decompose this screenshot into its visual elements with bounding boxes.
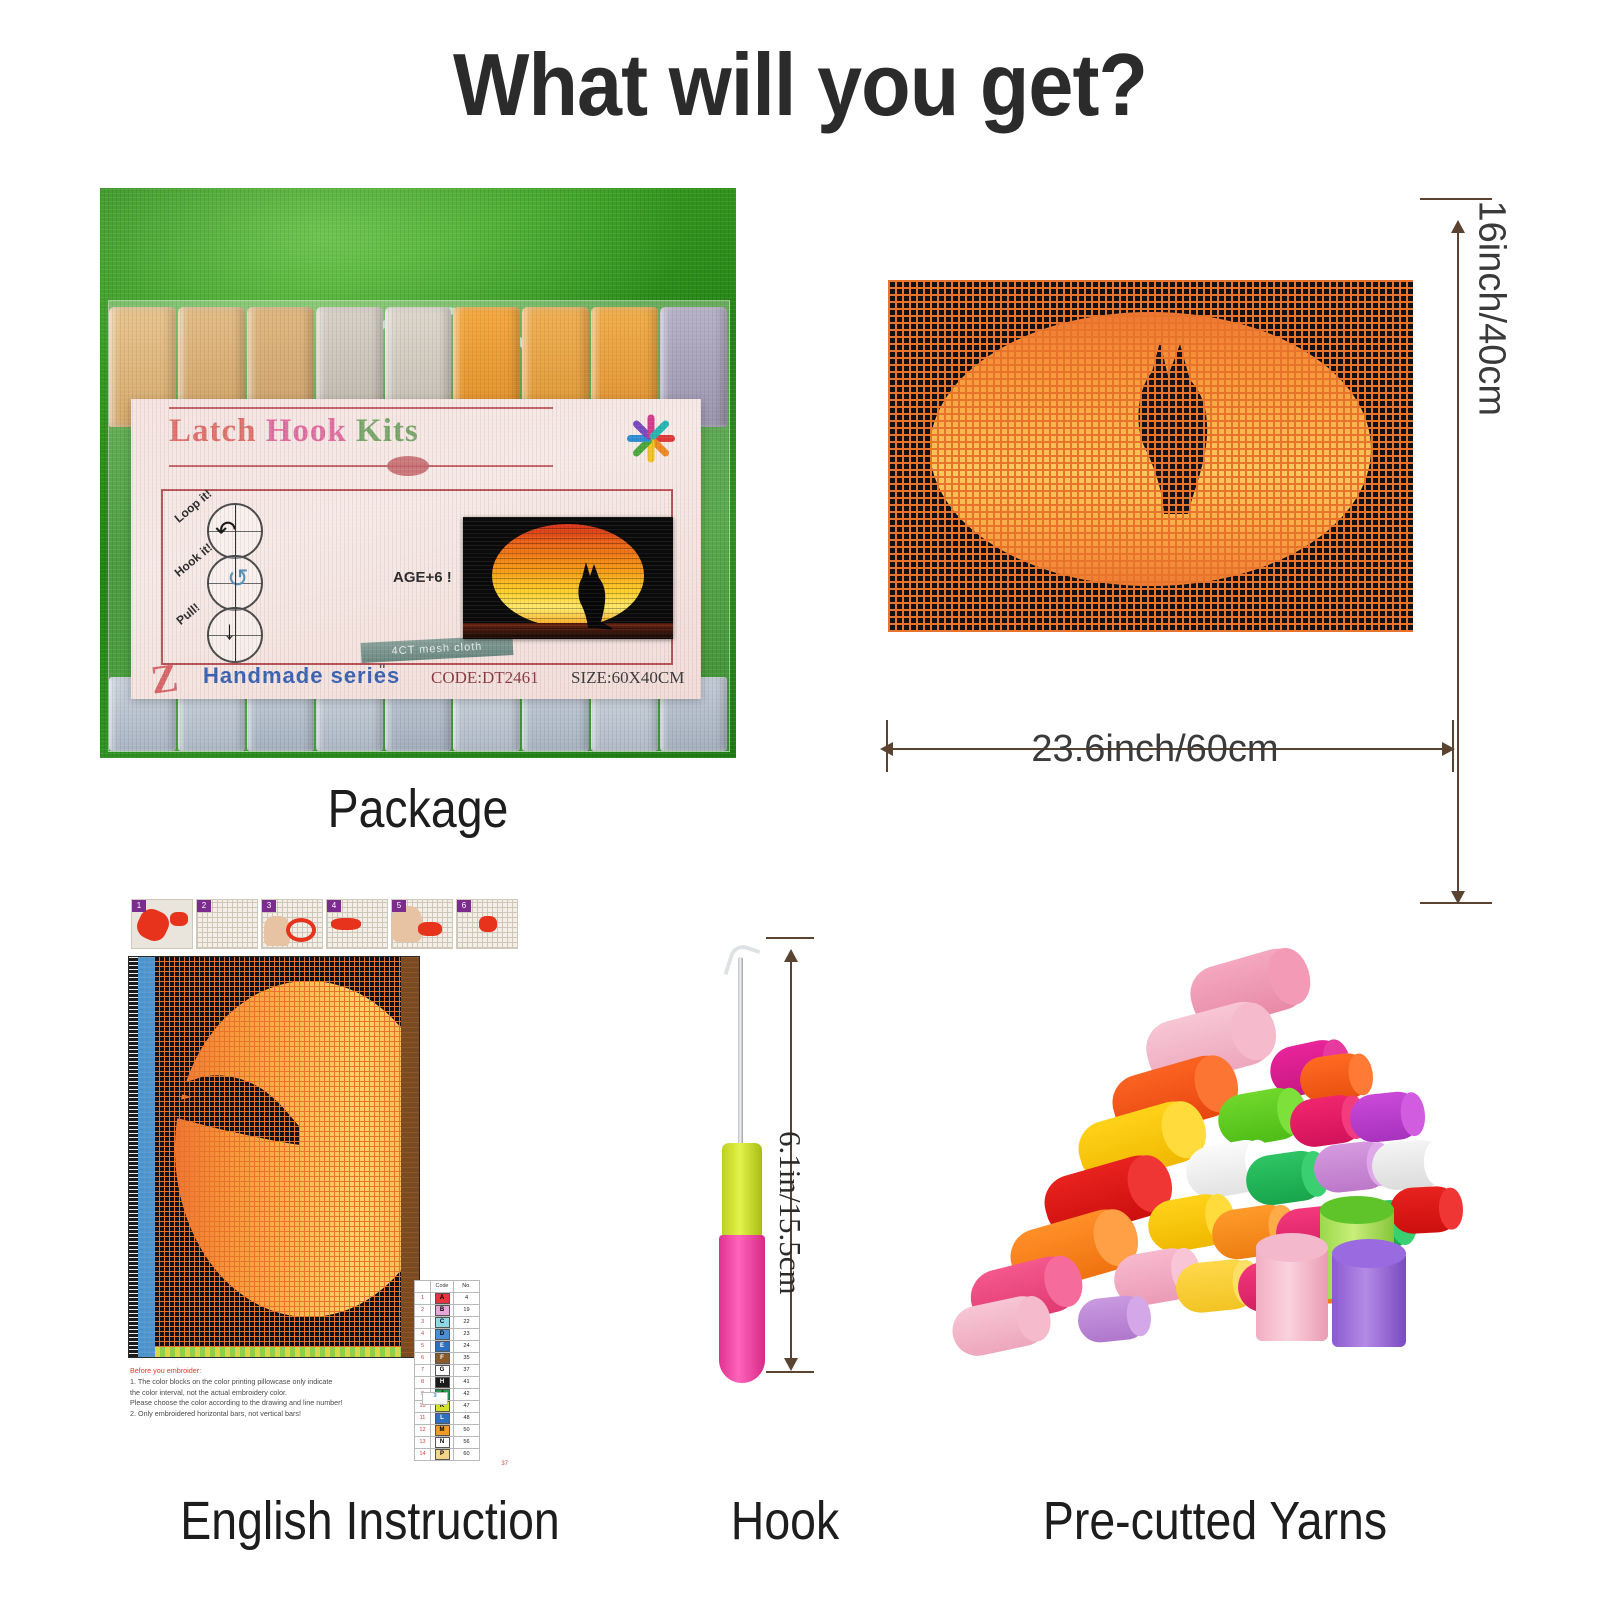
mesh-grid-overlay [888, 280, 1413, 632]
legend-header-row: Code No. Bag. [415, 1281, 522, 1293]
legend-cell-no: 56 [454, 1436, 480, 1448]
label-rule-top [169, 407, 553, 409]
legend-cell-index: 1 [415, 1292, 431, 1304]
yarn-bundle [1370, 1138, 1447, 1191]
legend-row: 4D235 [415, 1328, 522, 1340]
brand-word-hook: Hook [266, 413, 347, 449]
thumb-badge: 5 [392, 900, 406, 912]
legend-cell-no: 37 [454, 1364, 480, 1376]
height-dimension-line [1457, 228, 1459, 902]
legend-cell-no: 23 [454, 1328, 480, 1340]
legend-row: 2B191 [415, 1304, 522, 1316]
canvas-width-label: 23.6inch/60cm [860, 728, 1450, 771]
legend-row: 5E242 [415, 1340, 522, 1352]
legend-cell-code: D [431, 1328, 454, 1340]
yarn-bundle [948, 1292, 1052, 1361]
legend-total: 37 [414, 1461, 530, 1467]
instruction-sheet: 1 2 3 4 5 [120, 898, 540, 1463]
legend-cell-code: C [431, 1316, 454, 1328]
series-name: Handmade series [203, 663, 400, 689]
legend-row: 8H413 [415, 1376, 522, 1388]
legend-cell-code: M [431, 1424, 454, 1436]
hook-handle-upper [722, 1143, 762, 1237]
legend-cell-index: 3 [415, 1316, 431, 1328]
legend-cell-index: 12 [415, 1424, 431, 1436]
embroider-notice: Before you embroider: 1. The color block… [130, 1366, 430, 1420]
legend-cell-no: 22 [454, 1316, 480, 1328]
legend-color-swatch: G [435, 1365, 450, 1376]
product-preview-image [463, 517, 673, 639]
brand-word-latch: Latch [169, 413, 257, 449]
legend-cell-index: 13 [415, 1436, 431, 1448]
legend-row: 11L483 [415, 1412, 522, 1424]
canvas-height-label: 16inch/40cm [1469, 201, 1512, 416]
legend-color-swatch: F [435, 1353, 450, 1364]
legend-cell-no: 24 [454, 1340, 480, 1352]
yarn-rolls-top [109, 307, 729, 427]
legend-color-swatch: N [435, 1437, 450, 1448]
thumbnail-step: 2 [197, 900, 257, 948]
chart-border-bottom [155, 1347, 401, 1357]
yarn-bundle [1348, 1089, 1425, 1144]
legend-row: 1A42 [415, 1292, 522, 1304]
caption-english-instruction: English Instruction [129, 1490, 611, 1552]
label-scallop [387, 456, 429, 476]
legend-cell-index: 14 [415, 1448, 431, 1460]
mesh-canvas [888, 280, 1413, 632]
thumb-badge: 2 [197, 900, 211, 912]
legend-row: 7G373 [415, 1364, 522, 1376]
step-circle-hook: ↺ [207, 555, 263, 611]
legend-color-swatch: C [435, 1317, 450, 1328]
hook-length-label: 6.1in/15.5cm [772, 1131, 808, 1295]
package-photo: Latch Hook Kits Loop it! [100, 188, 736, 758]
caption-package: Package [145, 778, 692, 840]
yarn-jar-pink [1256, 1245, 1328, 1341]
legend-cell-code: B [431, 1304, 454, 1316]
legend-cell-no: 4 [454, 1292, 480, 1304]
legend-cell-no: 47 [454, 1400, 480, 1412]
thumb-badge: 4 [327, 900, 341, 912]
plastic-bag: Latch Hook Kits Loop it! [108, 300, 730, 752]
step-thumbnails: 1 2 3 4 5 [132, 900, 532, 952]
legend-row: 13N562 [415, 1436, 522, 1448]
hook-needle [738, 957, 743, 1149]
instruction-box: Loop it! ↶ Hook it! ↺ Pull! ↓ AGE+ [161, 489, 673, 665]
legend-color-swatch: A [435, 1293, 450, 1304]
legend-color-swatch: E [435, 1341, 450, 1352]
height-tick-bottom [1420, 902, 1492, 904]
notice-line-4: 2. Only embroidered horizontal bars, not… [130, 1409, 430, 1420]
step-label-loop: Loop it! [172, 487, 215, 526]
legend-cell-code: F [431, 1352, 454, 1364]
background-highlight [100, 188, 736, 427]
yarn-rolls-bottom [109, 677, 729, 751]
legend-cell-code: G [431, 1364, 454, 1376]
rug-sun [492, 524, 643, 626]
legend-cell-code: P [431, 1448, 454, 1460]
product-code: CODE:DT2461 [431, 668, 539, 688]
thumbnail-step: 3 [262, 900, 322, 948]
hook-arrow-bottom [784, 1358, 798, 1371]
thumbnail-step: 4 [327, 900, 387, 948]
notice-line-3: Please choose the color according to the… [130, 1398, 430, 1409]
infographic-page: What will you get? [0, 0, 1600, 1600]
step-circle-loop: ↶ [207, 503, 263, 559]
pinwheel-logo-icon [625, 411, 681, 461]
color-legend-table: Code No. Bag. 1A422B1913C2244D2355E2426F… [414, 1280, 530, 1465]
legend-color-swatch: H [435, 1377, 450, 1388]
legend-cell-code: A [431, 1292, 454, 1304]
color-chart [128, 956, 420, 1358]
step-label-pull: Pull! [174, 600, 203, 627]
legend-cell-no: 35 [454, 1352, 480, 1364]
thumbnail-step: 5 [392, 900, 452, 948]
rug-dog-silhouette [568, 558, 614, 632]
height-arrow-top [1451, 220, 1465, 233]
canvas-panel: 16inch/40cm 23.6inch/60cm [860, 180, 1520, 800]
caption-hook: Hook [660, 1490, 909, 1552]
legend-cell-index: 5 [415, 1340, 431, 1352]
legend-cell-code: L [431, 1412, 454, 1424]
notice-line-2: the color interval, not the actual embro… [130, 1388, 430, 1399]
legend-header-code: Code [431, 1281, 454, 1293]
label-rule-bottom [169, 465, 553, 467]
legend-cell-no: 60 [454, 1448, 480, 1460]
page-title: What will you get? [64, 34, 1536, 136]
hook-handle-lower [719, 1235, 765, 1383]
legend-color-swatch: P [435, 1449, 450, 1460]
legend-row: 12M503 [415, 1424, 522, 1436]
hook-arrow-top [784, 949, 798, 962]
yarn-jar-purple [1332, 1251, 1406, 1347]
mesh-type-ribbon: 4CT mesh cloth [361, 635, 514, 663]
thumbnail-step: 6 [457, 900, 517, 948]
legend-cell-no: 48 [454, 1412, 480, 1424]
chart-axis-ruler [129, 957, 138, 1357]
quote-mark: " [379, 661, 385, 682]
legend-cell-code: E [431, 1340, 454, 1352]
hook-tick-top [766, 937, 814, 939]
thumbnail-step: 1 [132, 900, 192, 948]
legend-cell-index: 4 [415, 1328, 431, 1340]
age-recommendation: AGE+6 ! [393, 569, 452, 586]
thumb-badge: 3 [262, 900, 276, 912]
legend-row: 14P603 [415, 1448, 522, 1460]
legend-row: 3C224 [415, 1316, 522, 1328]
rug-ground [463, 623, 673, 639]
yarn-bundle [1076, 1293, 1150, 1344]
notice-heading: Before you embroider: [130, 1366, 430, 1377]
bag-handle [310, 300, 562, 442]
legend-cell-index: 6 [415, 1352, 431, 1364]
legend-cell-no: 41 [454, 1376, 480, 1388]
product-size: SIZE:60X40CM [571, 668, 684, 688]
legend-cell-code: H [431, 1376, 454, 1388]
legend-row: 6F353 [415, 1352, 522, 1364]
caption-yarns: Pre-cutted Yarns [970, 1490, 1460, 1552]
brand-word-kits: Kits [356, 413, 419, 449]
legend-cell-no: 42 [454, 1388, 480, 1400]
step-label-hook: Hook it! [172, 540, 215, 579]
legend-cell-no: 50 [454, 1424, 480, 1436]
notice-line-1: 1. The color blocks on the color printin… [130, 1377, 430, 1388]
width-tick-right [1452, 720, 1454, 772]
thumb-badge: 6 [457, 900, 471, 912]
hook-tick-bottom [766, 1371, 814, 1373]
thumb-badge: 1 [132, 900, 146, 912]
legend-header-no: No. [454, 1281, 480, 1293]
step-circle-pull: ↓ [207, 607, 263, 663]
legend-color-swatch: L [435, 1413, 450, 1424]
rug-texture [463, 517, 673, 639]
legend-cell-code: N [431, 1436, 454, 1448]
legend-cell-no: 19 [454, 1304, 480, 1316]
legend-color-swatch: D [435, 1329, 450, 1340]
label-footer: Z Handmade series " CODE:DT2461 SIZE:60X… [131, 659, 701, 693]
package-label: Latch Hook Kits Loop it! [131, 399, 701, 699]
legend-header-index [415, 1281, 431, 1293]
z-logo-icon: Z [148, 653, 181, 703]
yarn-bundle [1389, 1185, 1461, 1235]
step-illustrations: Loop it! ↶ Hook it! ↺ Pull! ↓ [177, 497, 287, 657]
legend-cell-index: 2 [415, 1304, 431, 1316]
legend-color-swatch: M [435, 1425, 450, 1436]
legend-color-swatch: B [435, 1305, 450, 1316]
yarn-pile [950, 915, 1480, 1405]
hook-panel: 6.1in/15.5cm [680, 935, 880, 1405]
chart-grid-overlay [129, 957, 419, 1357]
brand-title: Latch Hook Kits [169, 413, 419, 450]
